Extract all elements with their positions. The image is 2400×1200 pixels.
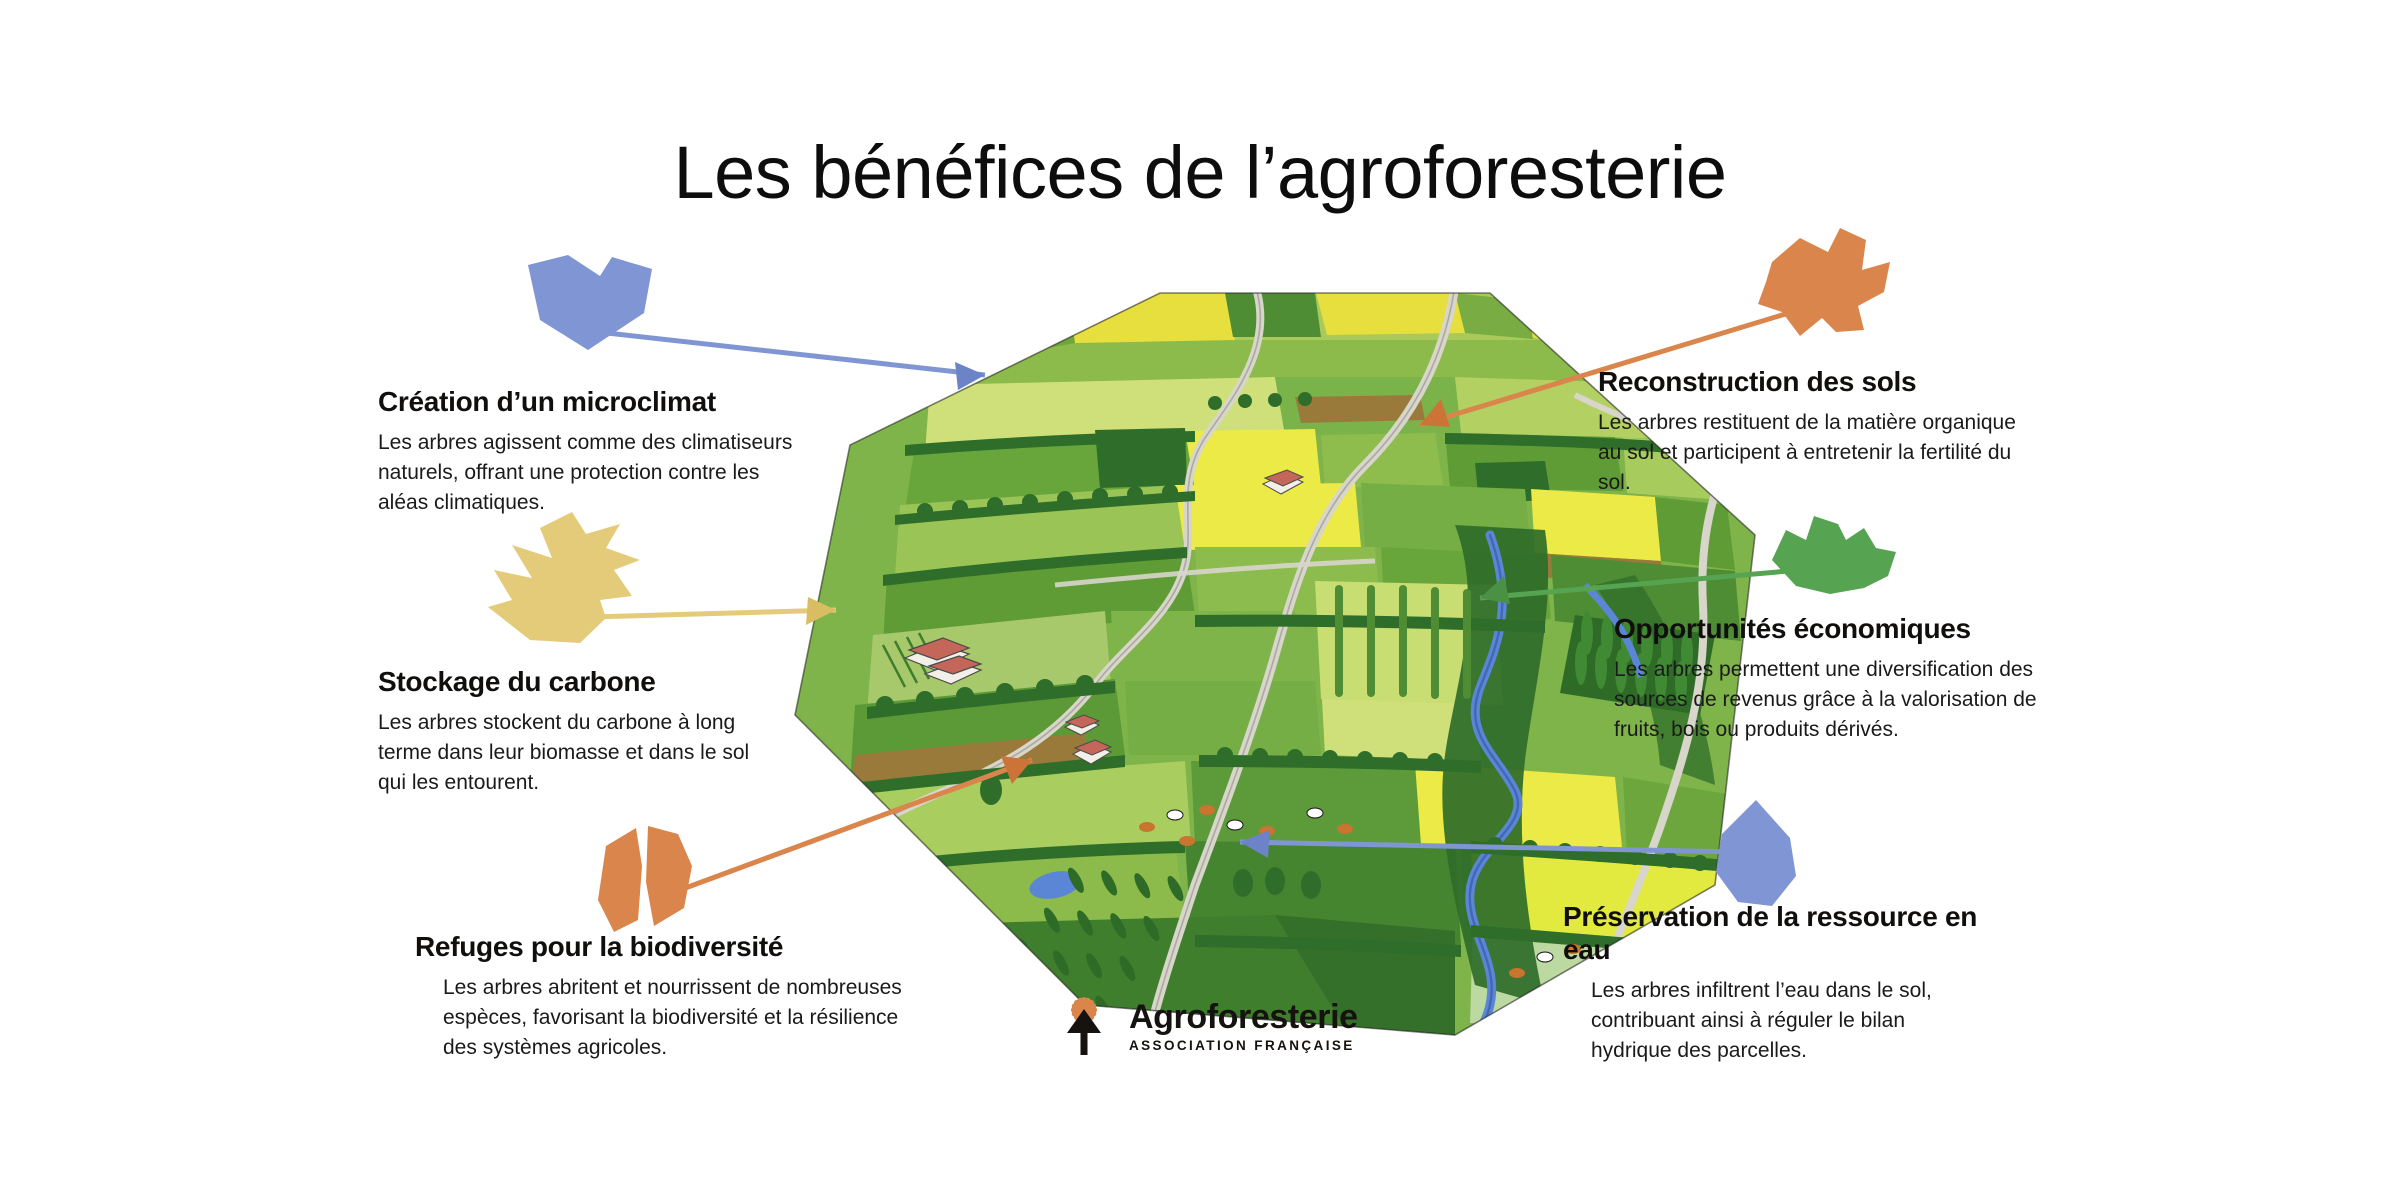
callout-microclimat: Création d’un microclimat Les arbres agi… xyxy=(378,385,798,517)
lobed-leaf-icon xyxy=(1758,228,1890,336)
callout-biodiversite: Refuges pour la biodiversité Les arbres … xyxy=(415,930,935,1062)
page-title: Les bénéfices de l’agroforesterie xyxy=(0,130,2400,215)
arrow-up-icon xyxy=(1067,1009,1101,1055)
callout-title-microclimat: Création d’un microclimat xyxy=(378,385,798,418)
callout-body-carbone: Les arbres stockent du carbone à long te… xyxy=(378,708,778,797)
callout-title-carbone: Stockage du carbone xyxy=(378,665,778,698)
callout-body-eau: Les arbres infiltrent l’eau dans le sol,… xyxy=(1563,976,1983,1065)
logo-subtitle: ASSOCIATION FRANÇAISE xyxy=(1129,1039,1358,1053)
heart-leaf-icon xyxy=(528,255,652,350)
callout-title-sols: Reconstruction des sols xyxy=(1598,365,2028,398)
callout-body-sols: Les arbres restituent de la matière orga… xyxy=(1598,408,2028,497)
callout-carbone: Stockage du carbone Les arbres stockent … xyxy=(378,665,778,797)
callout-economie: Opportunités économiques Les arbres perm… xyxy=(1614,612,2054,744)
split-leaf-icon xyxy=(598,826,692,932)
logo-name: Agroforesterie xyxy=(1129,1000,1358,1034)
callout-sols: Reconstruction des sols Les arbres resti… xyxy=(1598,365,2028,497)
infographic-canvas: Les bénéfices de l’agroforesterie xyxy=(0,0,2400,1200)
callout-body-economie: Les arbres permettent une diversificatio… xyxy=(1614,655,2054,744)
logo-mark-icon xyxy=(1053,995,1115,1057)
callout-title-biodiversite: Refuges pour la biodiversité xyxy=(415,930,935,963)
callout-eau: Préservation de la ressource en eau Les … xyxy=(1563,900,1983,1066)
spiky-leaf-icon xyxy=(488,512,640,643)
callout-title-eau: Préservation de la ressource en eau xyxy=(1563,900,1983,966)
callout-title-economie: Opportunités économiques xyxy=(1614,612,2054,645)
agroforesterie-logo[interactable]: Agroforesterie ASSOCIATION FRANÇAISE xyxy=(1053,995,1358,1057)
oak-leaf-icon xyxy=(1772,516,1896,594)
callout-body-biodiversite: Les arbres abritent et nourrissent de no… xyxy=(415,973,935,1062)
callout-body-microclimat: Les arbres agissent comme des climatiseu… xyxy=(378,428,798,517)
